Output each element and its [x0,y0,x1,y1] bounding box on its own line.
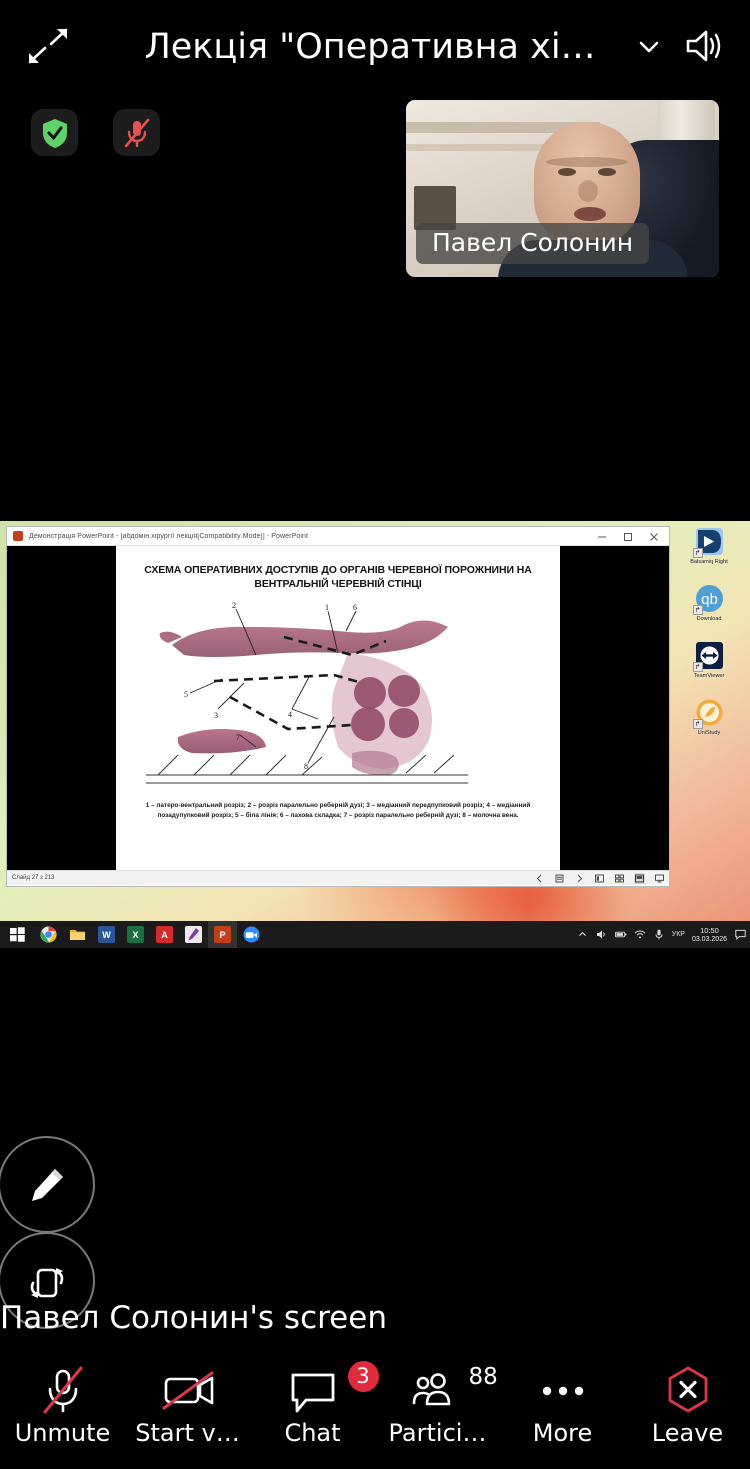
pencil-icon [24,1162,70,1208]
shared-screen-label: Павел Солонин's screen [0,1294,600,1342]
desktop-icon-label: Balsamiq Right [690,559,728,565]
shield-check-icon [40,117,70,149]
chrome-icon [40,926,57,943]
mic-muted-chip[interactable] [113,109,160,156]
participants-count: 88 [469,1365,498,1389]
chevron-down-icon[interactable] [632,30,666,64]
zoom-meeting-screen: Лекція "Оперативна хі… [0,0,750,1469]
taskbar-app-powerpoint[interactable]: P [208,921,237,948]
slide-counter: Слайд 27 з 213 [12,875,54,881]
taskbar-app-chrome[interactable] [34,921,63,948]
participant-eye-right [598,168,616,176]
participants-label: Partici… [389,1419,487,1447]
taskbar-clock[interactable]: 10:50 03.03.2026 [692,926,727,944]
slideshow-view-button[interactable] [654,873,665,884]
chat-unread-badge: 3 [348,1361,379,1392]
shortcut-arrow-icon: ↱ [693,548,703,558]
annotate-button[interactable] [0,1136,95,1233]
leave-label: Leave [652,1419,723,1447]
taskbar-app-zoom[interactable] [237,921,266,948]
ellipsis-icon [537,1363,589,1417]
chat-label: Chat [284,1419,340,1447]
more-label: More [533,1419,593,1447]
reading-view-button[interactable] [634,873,645,884]
more-button[interactable]: More [500,1363,625,1447]
figure-label-1: 1 [325,603,329,612]
powerpoint-statusbar: Слайд 27 з 213 [7,870,669,885]
participant-video-tile[interactable]: Павел Солонин [406,100,719,277]
unmute-button[interactable]: Unmute [0,1363,125,1447]
participants-button[interactable]: 88 Partici… [375,1363,500,1447]
shared-screen-view[interactable]: ↱ Balsamiq Right qb ↱ Download [0,521,750,948]
figure-label-5: 5 [184,690,188,699]
slide-heading: СХЕМА ОПЕРАТИВНИХ ДОСТУПІВ ДО ОРГАНІВ ЧЕ… [143,563,533,591]
balsamiq-icon: ↱ [695,527,724,556]
speaker-on-icon[interactable] [682,24,728,68]
taskbar-app-excel[interactable]: X [121,921,150,948]
taskbar-app-explorer[interactable] [63,921,92,948]
normal-view-button[interactable] [594,873,605,884]
wifi-icon[interactable] [634,929,646,941]
shortcut-arrow-icon: ↱ [693,662,703,672]
participant-name-label: Павел Солонин [416,223,649,264]
figure-label-4: 4 [288,710,292,719]
chat-bubble-icon: 3 [288,1363,338,1417]
figure-label-8: 8 [304,762,308,771]
meeting-top-bar: Лекція "Оперативна хі… [0,0,750,92]
participant-nose [578,180,598,202]
tray-expand-icon[interactable] [577,929,589,941]
desktop-icon[interactable]: ↱ Balsamiq Right [672,527,746,565]
start-video-button[interactable]: Start v… [125,1363,250,1447]
maximize-button[interactable] [615,527,641,546]
powerpoint-window-title: Демонстрація PowerPoint - [абдомін.хірур… [29,533,308,540]
close-button[interactable] [641,527,667,546]
slide-caption: 1 – латеро-вентральний розріз; 2 – розрі… [141,801,536,820]
clock-date: 03.03.2026 [692,935,727,944]
mic-off-icon [122,117,152,149]
figure-label-6: 6 [353,603,357,612]
powerpoint-icon: P [214,926,231,943]
battery-icon[interactable] [615,929,627,941]
encryption-shield-chip[interactable] [31,109,78,156]
slide-canvas: СХЕМА ОПЕРАТИВНИХ ДОСТУПІВ ДО ОРГАНІВ ЧЕ… [116,546,560,870]
acrobat-icon: A [156,926,173,943]
video-bg-shelf-2 [406,144,556,151]
unmute-label: Unmute [15,1419,111,1447]
taskbar-app-acrobat[interactable]: A [150,921,179,948]
next-slide-button[interactable] [574,873,585,884]
slide-anatomical-figure: 2 1 6 5 3 4 7 8 [138,597,538,797]
figure-label-2: 2 [232,601,236,610]
windows-start-icon[interactable] [0,921,34,948]
chat-button[interactable]: 3 Chat [250,1363,375,1447]
desktop-icons: ↱ Balsamiq Right qb ↱ Download [672,527,746,755]
window-controls [589,527,667,546]
collapse-arrows-icon[interactable] [24,24,72,68]
leave-button[interactable]: Leave [625,1363,750,1447]
clock-time: 10:50 [700,926,719,935]
video-off-icon [158,1363,218,1417]
leave-hexagon-icon [662,1363,714,1417]
figure-label-7: 7 [236,733,240,742]
meeting-controls-toolbar: Unmute Start v… 3 Chat [0,1351,750,1469]
desktop-icon[interactable]: ↱ UniStudy [672,698,746,736]
mic-off-icon [37,1363,89,1417]
desktop-icon-label: Download [697,616,722,622]
minimize-button[interactable] [589,527,615,546]
svg-text:qb: qb [701,591,718,608]
powerpoint-titlebar[interactable]: Демонстрація PowerPoint - [абдомін.хірур… [7,527,669,546]
excel-icon: X [127,926,144,943]
prev-slide-button[interactable] [534,873,545,884]
start-video-label: Start v… [135,1419,239,1447]
unistudy-icon: ↱ [695,698,724,727]
action-center-icon[interactable] [734,929,746,941]
qbittorrent-icon: qb ↱ [695,584,724,613]
powerpoint-window[interactable]: Демонстрація PowerPoint - [абдомін.хірур… [6,526,670,887]
powerpoint-app-icon [13,531,23,541]
slide-list-button[interactable] [554,873,565,884]
desktop-icon-label: UniStudy [698,730,721,736]
language-indicator[interactable]: УКР [672,931,685,938]
slide-sorter-button[interactable] [614,873,625,884]
meeting-title: Лекція "Оперативна хі… [120,18,620,76]
participant-brow [546,157,628,167]
file-explorer-icon [69,926,86,943]
participants-icon: 88 [411,1363,465,1417]
participant-mouth [574,207,606,221]
taskbar-app-word[interactable]: W [92,921,121,948]
volume-icon[interactable] [596,929,608,941]
zoom-app-icon [243,926,260,943]
desktop-icon[interactable]: qb ↱ Download [672,584,746,622]
onenote-pen-icon [185,926,202,943]
figure-label-3: 3 [214,711,218,720]
desktop-icon[interactable]: ↱ TeamViewer [672,641,746,679]
shortcut-arrow-icon: ↱ [693,719,703,729]
taskbar-app-onenote[interactable] [179,921,208,948]
powerpoint-slide-stage: СХЕМА ОПЕРАТИВНИХ ДОСТУПІВ ДО ОРГАНІВ ЧЕ… [7,546,669,870]
word-icon: W [98,926,115,943]
teamviewer-icon: ↱ [695,641,724,670]
desktop-icon-label: TeamViewer [694,673,725,679]
mic-icon[interactable] [653,929,665,941]
windows-taskbar: W X A P [0,921,750,948]
statusbar-buttons [534,871,665,886]
participant-eye-left [558,168,576,176]
system-tray: УКР 10:50 03.03.2026 [577,921,746,948]
shortcut-arrow-icon: ↱ [693,605,703,615]
